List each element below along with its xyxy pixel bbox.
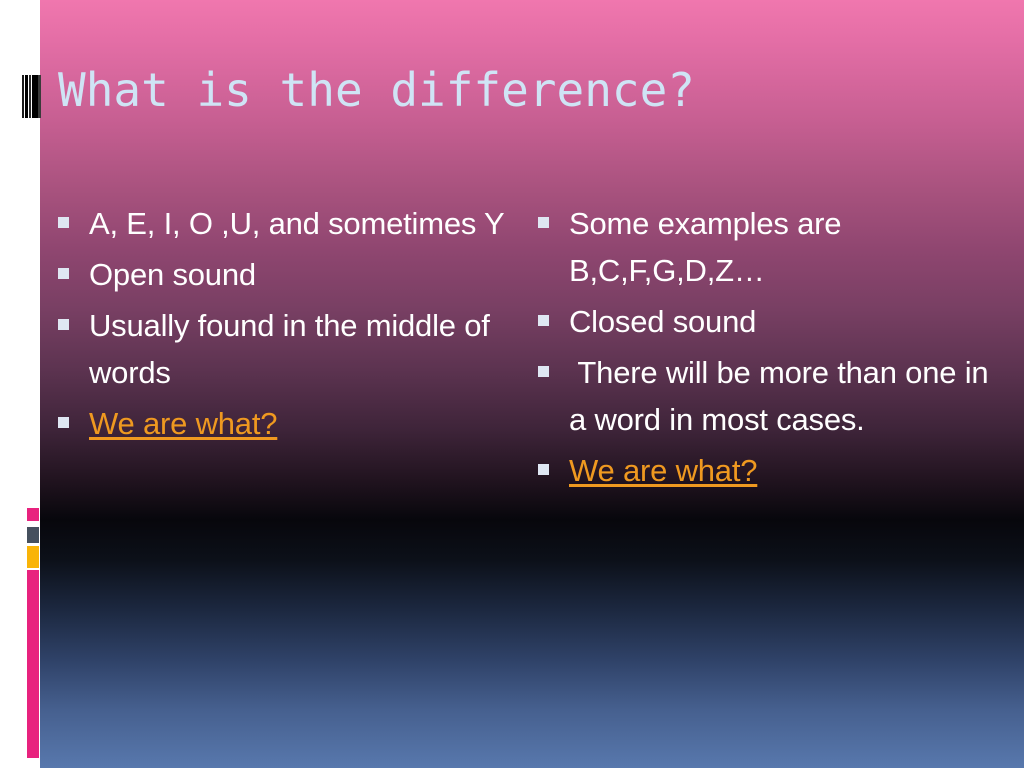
list-item-link[interactable]: We are what? (58, 400, 528, 447)
list-item: Open sound (58, 251, 528, 298)
accent-pink-square (27, 508, 39, 521)
square-bullet-icon (538, 217, 549, 228)
list-item-label: Some examples are B,C,F,G,D,Z… (569, 200, 998, 294)
list-item-label: Closed sound (569, 298, 998, 345)
bullet-column-right: Some examples are B,C,F,G,D,Z… Closed so… (528, 200, 998, 740)
list-item-link[interactable]: We are what? (538, 447, 998, 494)
list-item: A, E, I, O ,U, and sometimes Y (58, 200, 528, 247)
list-item: Closed sound (538, 298, 998, 345)
bullet-column-left: A, E, I, O ,U, and sometimes Y Open soun… (58, 200, 528, 740)
square-bullet-icon (538, 464, 549, 475)
slide-title: What is the difference? (58, 64, 958, 117)
list-item: Some examples are B,C,F,G,D,Z… (538, 200, 998, 294)
square-bullet-icon (58, 217, 69, 228)
accent-slate-square (27, 527, 39, 543)
barcode-stripes-icon (22, 75, 41, 118)
accent-yellow-square (27, 546, 39, 568)
square-bullet-icon (58, 319, 69, 330)
list-item: There will be more than one in a word in… (538, 349, 998, 443)
square-bullet-icon (538, 315, 549, 326)
hyperlink-we-are-what[interactable]: We are what? (89, 400, 277, 447)
hyperlink-we-are-what[interactable]: We are what? (569, 447, 757, 494)
list-item-label: There will be more than one in a word in… (569, 349, 998, 443)
square-bullet-icon (58, 417, 69, 428)
accent-pink-bar (27, 570, 39, 758)
list-item-label: Usually found in the middle of words (89, 302, 528, 396)
hyperlink-wrapper[interactable]: We are what? (569, 447, 757, 494)
presentation-slide: What is the difference? A, E, I, O ,U, a… (0, 0, 1024, 768)
square-bullet-icon (58, 268, 69, 279)
square-bullet-icon (538, 366, 549, 377)
list-item-label: Open sound (89, 251, 528, 298)
slide-body: A, E, I, O ,U, and sometimes Y Open soun… (58, 200, 998, 740)
list-item-label: A, E, I, O ,U, and sometimes Y (89, 200, 528, 247)
hyperlink-wrapper[interactable]: We are what? (89, 400, 277, 447)
list-item: Usually found in the middle of words (58, 302, 528, 396)
